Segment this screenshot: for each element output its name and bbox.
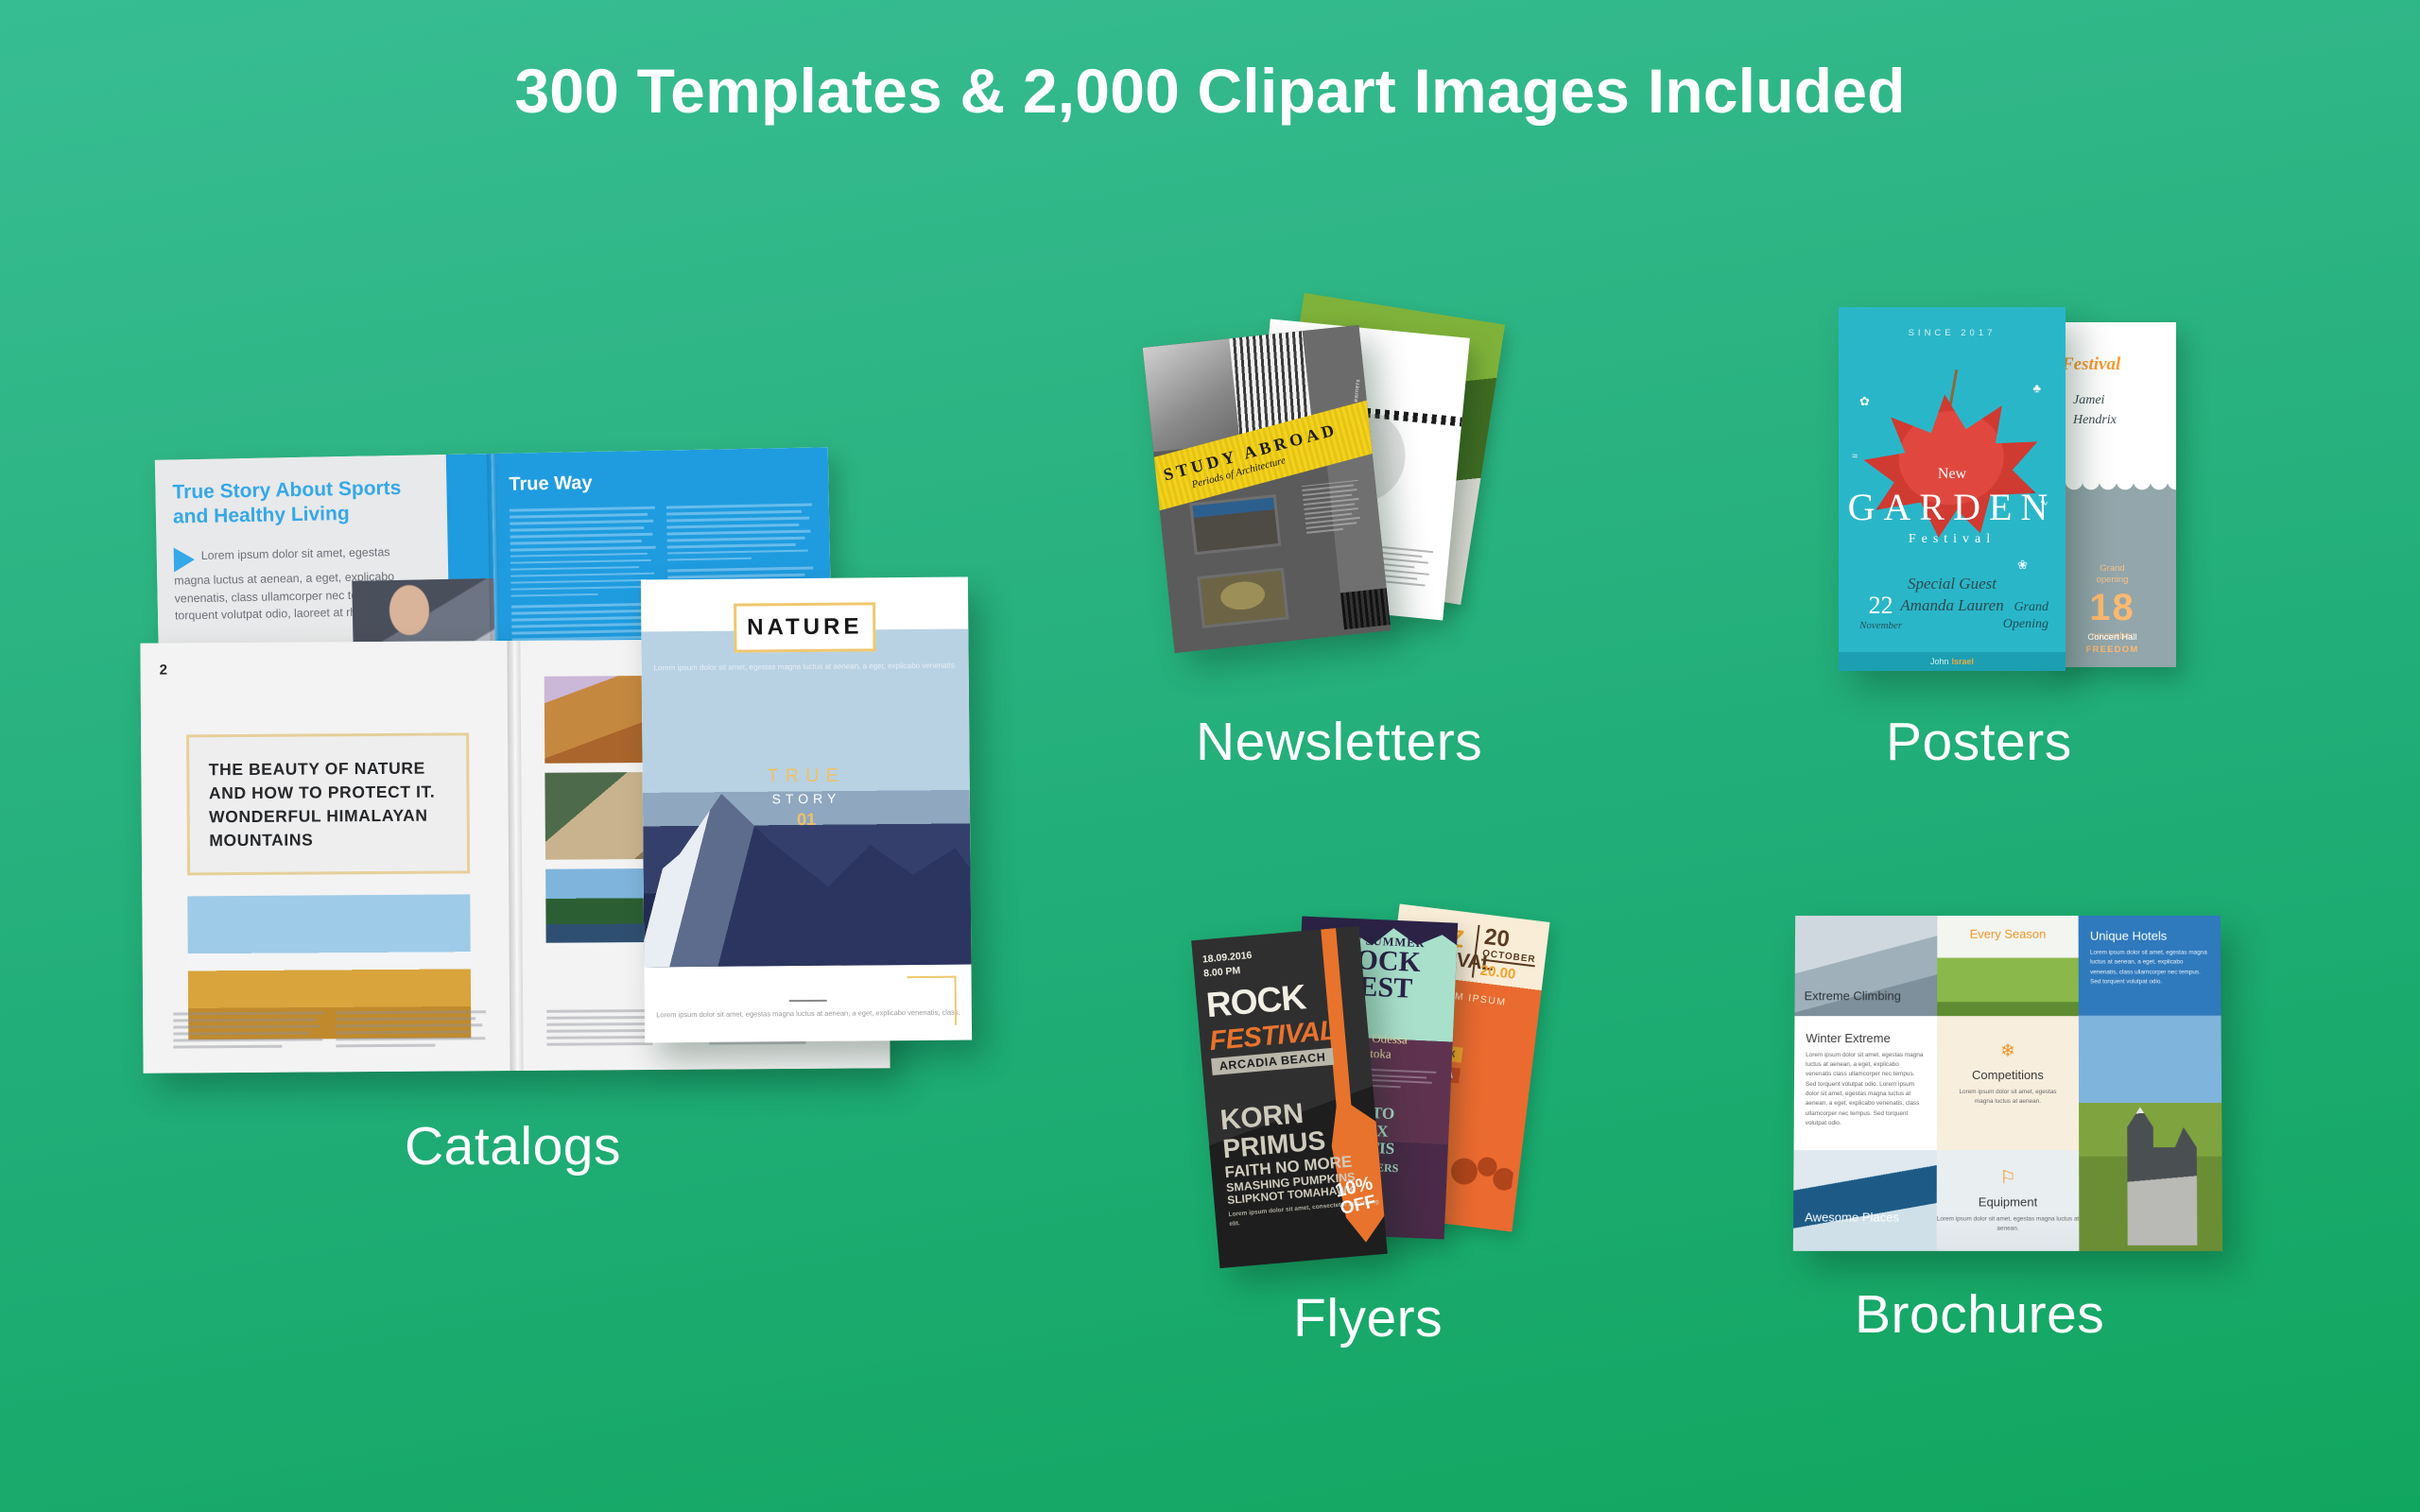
newsletters-artwork-group[interactable]: Poisonous Snakes American Association fo…: [1158, 307, 1564, 685]
colosseum-inset-photo: [1189, 494, 1281, 556]
cover-issue-number: 01: [643, 808, 970, 831]
flyer-rock-title: ROCK: [1205, 980, 1307, 1022]
cover-line-true: TRUE: [643, 764, 970, 788]
poster-festival[interactable]: Festival Jamei Hendrix Grand opening 18 …: [2048, 322, 2176, 667]
clover-icon: ♣: [2032, 381, 2041, 395]
brochure-equipment-section: ⚐ Equipment Lorem ipsum dolor sit amet, …: [1936, 1150, 2079, 1251]
flyers-artwork-group[interactable]: JAZZ FESTIVAL 20 OCTOBER 20.00 LOREM IPS…: [1205, 912, 1602, 1271]
brochure-winter-body: Lorem ipsum dolor sit amet, egestas magn…: [1806, 1051, 1926, 1129]
poster-garden-since: SINCE 2017: [1839, 328, 2066, 338]
poster-garden-subtitle: Festival: [1839, 532, 2066, 547]
flyer-jazz-datetime: 20 OCTOBER 20.00: [1472, 925, 1539, 985]
brochure-panel-1[interactable]: Extreme Climbing Winter Extreme Lorem ip…: [1793, 916, 1937, 1251]
brochure-competitions-body: Lorem ipsum dolor sit amet, egestas magn…: [1950, 1087, 2066, 1107]
flyer-rock-datetime: 18.09.20168.00 PM: [1201, 949, 1253, 982]
musician-silhouettes: [1441, 1118, 1519, 1199]
catalog-front-left-page: 2 THE BEAUTY OF NATURE AND HOW TO PROTEC…: [140, 641, 516, 1074]
cover-center-text: TRUE STORY 01: [643, 764, 971, 831]
brochure-winter-section: Winter Extreme Lorem ipsum dolor sit ame…: [1794, 1016, 1937, 1150]
poster-garden-footer: JohnIsrael: [1839, 652, 2066, 671]
brochure-climbing-photo: Extreme Climbing: [1794, 916, 1937, 1016]
poster-festival-grand-opening: Grand opening: [2048, 563, 2176, 586]
page-number: 2: [160, 660, 495, 678]
wave-icon: ≈: [1852, 451, 1858, 462]
brochure-hotels-body: Lorem ipsum dolor sit amet, egestas magn…: [2090, 949, 2209, 988]
poster-garden[interactable]: SINCE 2017 ✿ ♣ ∿ ≈ ❀ New GARDEN Festival…: [1839, 307, 2066, 671]
medal-icon: ❄: [1950, 1040, 2066, 1062]
category-label-posters[interactable]: Posters: [1886, 711, 2072, 773]
category-label-newsletters[interactable]: Newsletters: [1196, 711, 1482, 773]
newsletter-body-column: [1302, 479, 1363, 537]
dome-inset-photo: [1197, 568, 1288, 629]
nature-masthead-frame: NATURE: [734, 602, 875, 652]
brochure-places-caption: Awesome Places: [1805, 1210, 1899, 1224]
brochure-equipment-body: Lorem ipsum dolor sit amet, egestas magn…: [1936, 1214, 2079, 1234]
poster-festival-venue: Concert Hall FREEDOM: [2048, 632, 2176, 657]
corner-rule-decoration: [907, 976, 957, 1025]
fern-icon: ❀: [2017, 558, 2028, 573]
brochure-winter-heading: Winter Extreme: [1806, 1031, 1926, 1045]
catalog-nature-cover[interactable]: NATURE Lorem ipsum dolor sit amet, egest…: [641, 576, 972, 1042]
poster-garden-title: GARDEN: [1839, 485, 2066, 529]
catalog-back-right-title: True Way: [509, 469, 811, 496]
divider: [789, 1000, 827, 1002]
bicycle-icon: ⚐: [1936, 1167, 2079, 1189]
brochure-hotels-heading: Unique Hotels: [2090, 929, 2209, 943]
brochure-season-photo: Every Season: [1937, 916, 2079, 1016]
catalog-back-left-title: True Story About Sports and Healthy Livi…: [172, 475, 440, 530]
flyer-rock-discount: 10% OFF: [1333, 1174, 1378, 1218]
brochures-artwork-group[interactable]: Extreme Climbing Winter Extreme Lorem ip…: [1793, 916, 2222, 1251]
posters-artwork-group[interactable]: Festival Jamei Hendrix Grand opening 18 …: [1839, 307, 2226, 685]
page-title: 300 Templates & 2,000 Clipart Images Inc…: [0, 55, 2420, 127]
poster-festival-title: Festival: [2062, 354, 2120, 375]
catalog-front-left-body: [173, 1010, 487, 1052]
poster-festival-day: 18: [2048, 587, 2176, 629]
catalog-quote-text: THE BEAUTY OF NATURE AND HOW TO PROTECT …: [209, 757, 448, 852]
catalog-quote-box: THE BEAUTY OF NATURE AND HOW TO PROTECT …: [187, 732, 470, 875]
barn-photo: [2107, 1077, 2217, 1246]
brochure-panel-2[interactable]: Every Season ❄ Competitions Lorem ipsum …: [1936, 916, 2079, 1251]
brochure-places-photo: Awesome Places: [1793, 1150, 1937, 1251]
cover-line-story: STORY: [643, 789, 970, 807]
poster-garden-kicker: New: [1839, 466, 2066, 483]
barcode-decoration: [1340, 588, 1391, 629]
category-label-flyers[interactable]: Flyers: [1293, 1287, 1443, 1349]
poster-garden-opening: Grand Opening: [2003, 599, 2048, 633]
category-label-catalogs[interactable]: Catalogs: [405, 1115, 621, 1177]
newsletter-front-sheet[interactable]: American Association for Better Learners…: [1143, 325, 1391, 653]
statue-photo: [1143, 338, 1240, 452]
brochure-equipment-heading: Equipment: [1936, 1194, 2079, 1209]
catalogs-artwork-group[interactable]: True Story About Sports and Healthy Livi…: [142, 444, 1002, 1077]
leaf-sprig-icon: ✿: [1859, 394, 1870, 409]
brochure-competitions-section: ❄ Competitions Lorem ipsum dolor sit ame…: [1937, 1016, 2080, 1150]
poster-garden-date: 22 November: [1859, 592, 1902, 631]
brochure-climbing-caption: Extreme Climbing: [1805, 988, 1901, 1003]
poster-garden-day: 22: [1859, 592, 1902, 620]
nature-masthead: NATURE: [747, 613, 862, 641]
flyer-rock[interactable]: 18.09.20168.00 PM ROCK FESTIVAL ARCADIA …: [1191, 926, 1388, 1268]
poster-garden-month: November: [1859, 620, 1902, 631]
brochure-panel-3[interactable]: Unique Hotels Lorem ipsum dolor sit amet…: [2079, 916, 2222, 1251]
category-label-brochures[interactable]: Brochures: [1855, 1283, 2104, 1346]
brochure-season-caption: Every Season: [1937, 927, 2079, 941]
poster-festival-artist: Jamei Hendrix: [2073, 390, 2117, 430]
play-triangle-icon: [174, 547, 195, 572]
leaf-stem: [1949, 369, 1959, 405]
brochure-competitions-heading: Competitions: [1950, 1068, 2066, 1082]
